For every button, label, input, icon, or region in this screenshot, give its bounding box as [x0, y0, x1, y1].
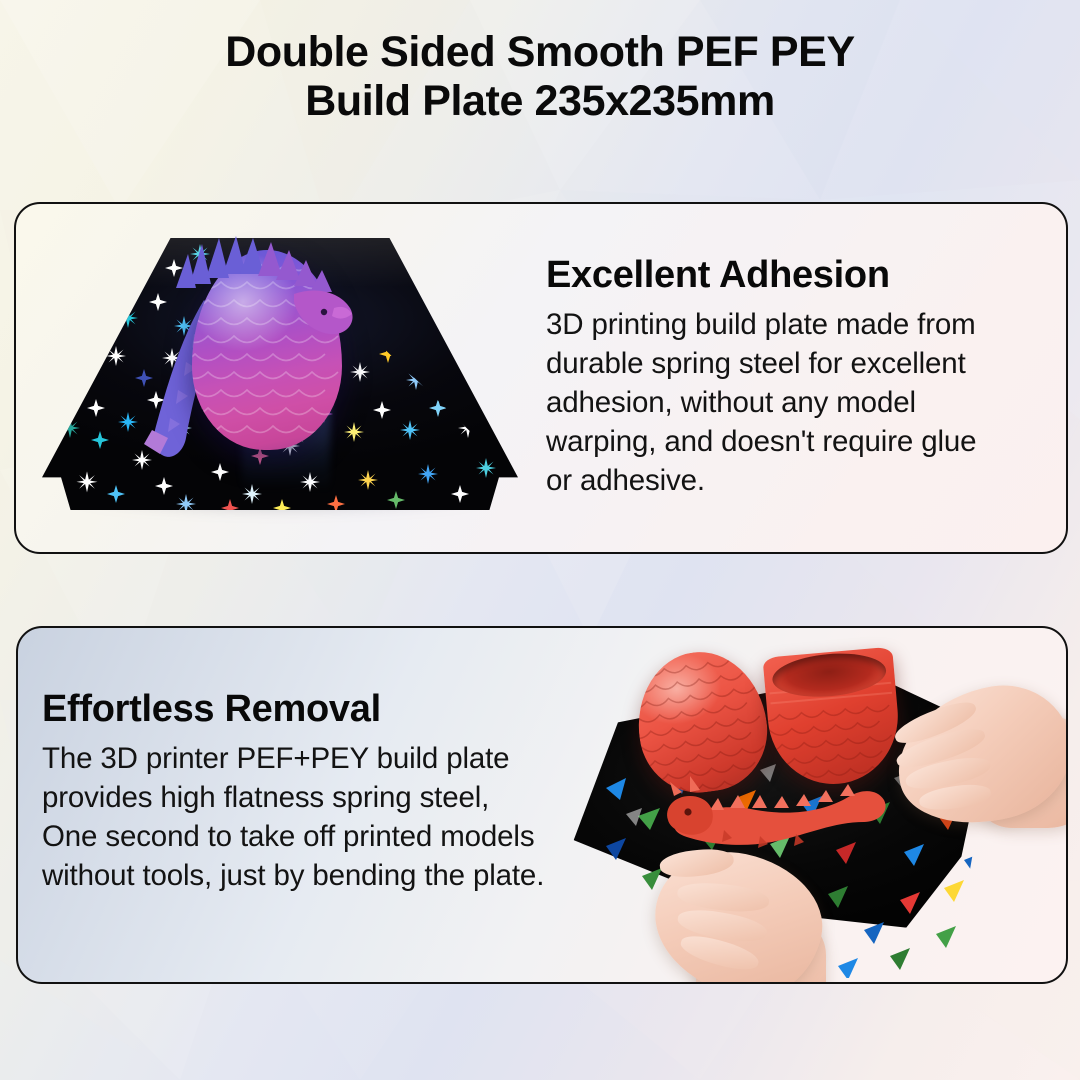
removal-text-pane: Effortless Removal The 3D printer PEF+PE… — [18, 628, 546, 982]
body-line: warping, and doesn't require glue — [546, 423, 1040, 462]
bending-plate-image-removal — [546, 628, 1066, 982]
page-title: Double Sided Smooth PEF PEY Build Plate … — [0, 28, 1080, 126]
red-dragon-print — [664, 764, 894, 860]
feature-body-removal: The 3D printer PEF+PEY build plate provi… — [42, 740, 546, 896]
feature-heading-removal: Effortless Removal — [42, 690, 546, 730]
body-line: provides high flatness spring steel, — [42, 779, 546, 818]
feature-body-adhesion: 3D printing build plate made from durabl… — [546, 306, 1040, 501]
body-line: durable spring steel for excellent — [546, 345, 1040, 384]
body-line: without tools, just by bending the plate… — [42, 857, 546, 896]
page-title-line-2: Build Plate 235x235mm — [0, 77, 1080, 126]
body-line: adhesion, without any model — [546, 384, 1040, 423]
body-line: The 3D printer PEF+PEY build plate — [42, 740, 546, 779]
build-plate-image-adhesion — [16, 204, 536, 552]
hands-bending-plate-illustration — [546, 638, 1066, 978]
feature-card-excellent-adhesion: Excellent Adhesion 3D printing build pla… — [14, 202, 1068, 554]
body-line: 3D printing build plate made from — [546, 306, 1040, 345]
dragon-head-spikes — [174, 234, 364, 354]
body-line: One second to take off printed models — [42, 818, 546, 857]
build-plate-illustration — [24, 232, 536, 532]
feature-heading-adhesion: Excellent Adhesion — [546, 256, 1040, 296]
adhesion-text-pane: Excellent Adhesion 3D printing build pla… — [536, 204, 1066, 552]
feature-card-effortless-removal: Effortless Removal The 3D printer PEF+PE… — [16, 626, 1068, 984]
page-title-line-1: Double Sided Smooth PEF PEY — [0, 28, 1080, 77]
body-line: or adhesive. — [546, 462, 1040, 501]
